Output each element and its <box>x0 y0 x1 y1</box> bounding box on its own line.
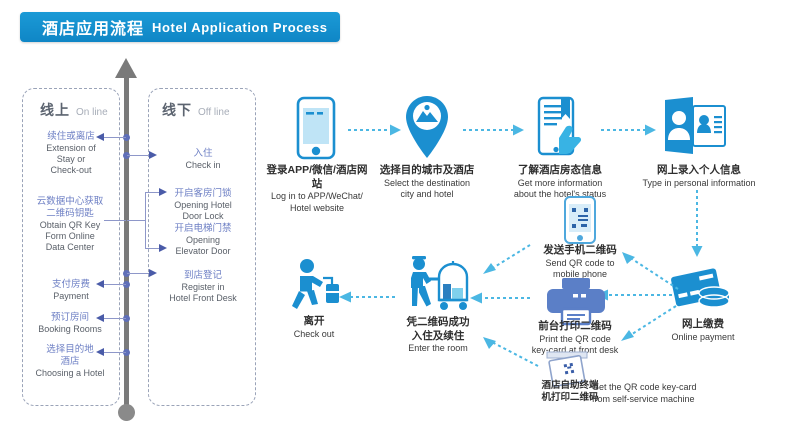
walking-luggage-icon <box>285 258 343 312</box>
flow-step-login-cn: 登录APP/微信/酒店网站 <box>262 164 372 191</box>
offline-step-register-en: Register in Hotel Front Desk <box>150 282 256 305</box>
flow-step-personal-info-cn: 网上录入个人信息 <box>634 164 764 178</box>
offline-step-elevator-cn: 开启电梯门禁 <box>152 223 254 235</box>
offline-step-elevator-en: Opening Elevator Door <box>152 235 254 258</box>
connector-arrow-online-4 <box>96 314 104 322</box>
offline-step-checkin: 入住 Check in <box>158 148 248 171</box>
offline-step-doorlock: 开启客房门锁 Opening Hotel Door Lock <box>152 188 254 222</box>
flow-step-checkout-en: Check out <box>268 329 360 340</box>
connector-online-2 <box>104 220 126 221</box>
bellboy-icon <box>403 255 471 311</box>
connector-online-3 <box>104 284 126 285</box>
online-header-cn: 线上 <box>40 100 70 120</box>
connector-online-1 <box>104 137 126 138</box>
online-step-extension-en: Extension of Stay or Check-out <box>24 143 118 177</box>
online-header-en: On line <box>76 107 108 118</box>
online-step-booking: 预订房间 Booking Rooms <box>20 312 120 335</box>
online-step-qrkey-en: Obtain QR Key Form Online Data Center <box>20 220 120 254</box>
connector-offline-4 <box>127 273 149 274</box>
flow-step-hotel-status-cn: 了解酒店房态信息 <box>503 164 617 178</box>
printer-icon <box>543 278 609 324</box>
flow-step-enter-room-cn: 凭二维码成功 入住及续住 <box>385 316 491 343</box>
flow-arrow-1 <box>348 124 402 136</box>
connector-arrow-offline-3 <box>159 244 167 252</box>
connector-arrow-offline-4 <box>149 269 157 277</box>
connector-online-4 <box>104 318 126 319</box>
connector-online-5 <box>104 352 126 353</box>
online-step-qrkey-cn: 云数据中心获取 二维码钥匙 <box>20 196 120 220</box>
timeline-axis <box>124 74 129 412</box>
page-title-en: Hotel Application Process <box>152 20 328 35</box>
qr-phone-icon <box>564 196 596 244</box>
id-card-icon <box>663 96 727 158</box>
flow-arrow-4 <box>690 190 704 258</box>
credit-card-icon <box>672 267 734 315</box>
flow-step-checkout-cn: 离开 <box>268 315 360 329</box>
flow-step-destination: 选择目的城市及酒店 Select the destination city an… <box>372 164 482 200</box>
flow-step-checkout: 离开 Check out <box>268 315 360 340</box>
self-service-note-en: Get the QR code key-card from self-servi… <box>592 382 792 405</box>
map-pin-icon <box>405 95 449 159</box>
flow-step-send-qr-cn: 发送手机二维码 <box>522 244 638 258</box>
online-step-choosing-en: Choosing a Hotel <box>20 368 120 379</box>
online-step-qrkey: 云数据中心获取 二维码钥匙 Obtain QR Key Form Online … <box>20 196 120 254</box>
flow-step-destination-en: Select the destination city and hotel <box>372 178 482 201</box>
connector-arrow-online-3 <box>96 280 104 288</box>
offline-step-doorlock-en: Opening Hotel Door Lock <box>152 200 254 223</box>
offline-step-elevator: 开启电梯门禁 Opening Elevator Door <box>152 223 254 257</box>
flow-step-destination-cn: 选择目的城市及酒店 <box>372 164 482 178</box>
connector-arrow-online-1 <box>96 133 104 141</box>
connector-offline-2 <box>145 192 159 193</box>
offline-step-checkin-cn: 入住 <box>158 148 248 160</box>
flow-step-send-qr: 发送手机二维码 Send QR code to mobile phone <box>522 244 638 280</box>
flow-arrow-printer-to-room <box>468 292 530 304</box>
flow-step-login: 登录APP/微信/酒店网站 Log in to APP/WeChat/ Hote… <box>262 164 372 214</box>
online-step-booking-en: Booking Rooms <box>20 324 120 335</box>
timeline-start-dot <box>118 404 135 421</box>
offline-step-register-cn: 到店登记 <box>150 270 256 282</box>
connector-offline-bracket-spine <box>145 192 146 248</box>
offline-header-cn: 线下 <box>162 100 192 120</box>
tablet-hand-icon <box>533 97 585 159</box>
offline-step-doorlock-cn: 开启客房门锁 <box>152 188 254 200</box>
page-title-bar: 酒店应用流程 Hotel Application Process <box>20 12 340 42</box>
connector-arrow-offline-2 <box>159 188 167 196</box>
flow-step-login-en: Log in to APP/WeChat/ Hotel website <box>262 191 372 214</box>
offline-step-checkin-en: Check in <box>158 160 248 171</box>
flow-arrow-qrphone-to-room <box>470 243 532 279</box>
online-step-payment-en: Payment <box>24 291 118 302</box>
flow-step-enter-room-en: Enter the room <box>385 343 491 354</box>
self-service-note-en-text: Get the QR code key-card from self-servi… <box>592 382 792 405</box>
connector-offline-bracket-stem <box>127 220 145 221</box>
connector-arrow-online-5 <box>96 348 104 356</box>
online-step-choosing: 选择目的地 酒店 Choosing a Hotel <box>20 344 120 379</box>
flow-step-send-qr-en: Send QR code to mobile phone <box>522 258 638 281</box>
flow-step-personal-info-en: Type in personal information <box>634 178 764 189</box>
flow-arrow-3 <box>601 124 657 136</box>
online-step-choosing-cn: 选择目的地 酒店 <box>20 344 120 368</box>
connector-offline-3 <box>145 248 159 249</box>
offline-header-en: Off line <box>198 107 230 118</box>
connector-offline-1 <box>127 155 149 156</box>
smartphone-icon <box>297 97 335 159</box>
offline-column-header: 线下 Off line <box>162 100 230 120</box>
page-title-cn: 酒店应用流程 <box>42 15 144 39</box>
online-column-header: 线上 On line <box>40 100 108 120</box>
connector-arrow-offline-1 <box>149 151 157 159</box>
flow-step-personal-info: 网上录入个人信息 Type in personal information <box>634 164 764 189</box>
offline-step-register: 到店登记 Register in Hotel Front Desk <box>150 270 256 304</box>
diagram-canvas: 酒店应用流程 Hotel Application Process 线上 On l… <box>0 0 799 430</box>
flow-step-enter-room: 凭二维码成功 入住及续住 Enter the room <box>385 316 491 355</box>
flow-step-hotel-status-en: Get more information about the hotel's s… <box>503 178 617 201</box>
flow-arrow-room-to-checkout <box>337 291 395 303</box>
flow-step-hotel-status: 了解酒店房态信息 Get more information about the … <box>503 164 617 200</box>
flow-arrow-2 <box>463 124 525 136</box>
